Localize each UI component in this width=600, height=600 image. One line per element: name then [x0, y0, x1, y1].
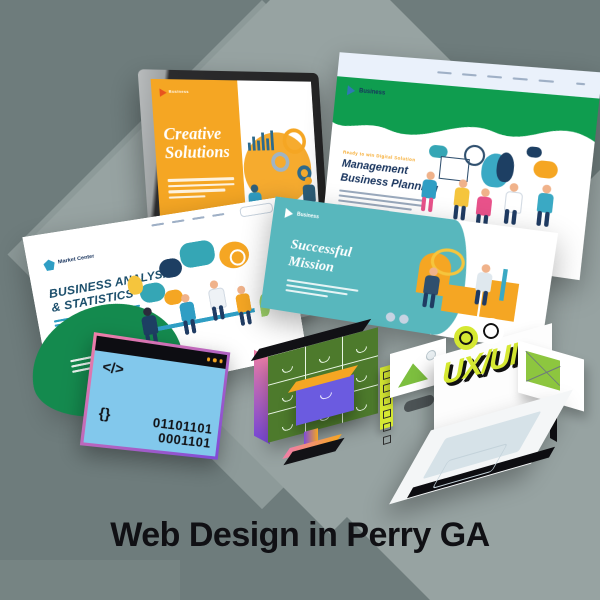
- brand-label: Business: [297, 211, 320, 220]
- gear-icon: [478, 318, 504, 344]
- drawer-handle: [320, 392, 332, 400]
- code-window-body: </> {} 01101101 0001101: [83, 350, 225, 456]
- speech-bubble: [533, 160, 559, 180]
- logo-mark-icon: [43, 259, 56, 272]
- search-input[interactable]: [239, 202, 273, 217]
- brand-label: Market Center: [58, 255, 95, 267]
- speech-bubble: [178, 239, 216, 269]
- brand-logo: Market Center: [43, 252, 96, 271]
- arrow-icon: [347, 85, 356, 96]
- window-dot: [213, 358, 217, 362]
- code-tag-icon: </>: [102, 358, 125, 377]
- arrow-icon: [159, 88, 167, 96]
- curly-brace-icon: {}: [98, 404, 112, 422]
- file-cabinet: [252, 338, 378, 458]
- background-polygon-4: [0, 560, 180, 600]
- gear-icon: [454, 326, 478, 350]
- window-dot: [206, 357, 210, 361]
- brand-logo: Business: [159, 88, 194, 97]
- bar-chart-illustration: [247, 128, 274, 150]
- speech-bubble: [526, 146, 542, 158]
- binary-text: 01101101 0001101: [150, 416, 213, 451]
- code-window: </> {} 01101101 0001101: [80, 332, 230, 460]
- screen-headline: Creative Solutions: [163, 125, 230, 163]
- mountain-icon: [398, 359, 428, 388]
- brand-label: Business: [359, 88, 386, 96]
- headline-line-1: Creative: [163, 125, 229, 144]
- illustration-canvas: Business Creative Solutions: [0, 0, 600, 600]
- window-dot: [219, 359, 223, 363]
- screen-paragraph: [168, 177, 240, 202]
- mouse-icon: [404, 394, 434, 414]
- page-title: Web Design in Perry GA: [0, 516, 600, 555]
- brand-label: Business: [168, 89, 188, 94]
- arrow-icon: [285, 208, 294, 219]
- headline-line-2: Solutions: [164, 143, 230, 163]
- uxui-laptop: UX/UI: [382, 318, 580, 498]
- code-window-frame: </> {} 01101101 0001101: [80, 332, 230, 460]
